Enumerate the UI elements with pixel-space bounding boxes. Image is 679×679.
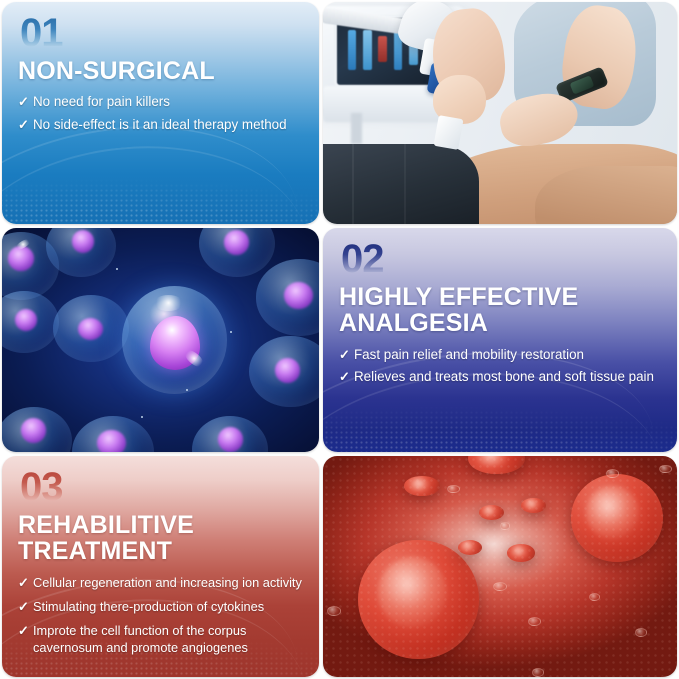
list-item: ✓ Fast pain relief and mobility restorat… xyxy=(339,346,661,365)
card-03-title-line-2: TREATMENT xyxy=(18,538,303,565)
list-item: ✓ Stimulating there-production of cytoki… xyxy=(18,598,303,616)
benefit-card-03[interactable]: 03 REHABILITIVE TREATMENT ✓ Cellular reg… xyxy=(2,456,319,677)
grid-cell-card-03: 03 REHABILITIVE TREATMENT ✓ Cellular reg… xyxy=(0,454,321,679)
card-02-bullet-list: ✓ Fast pain relief and mobility restorat… xyxy=(339,346,661,387)
photo-shockwave-therapy xyxy=(323,2,677,224)
patient-second-leg xyxy=(535,166,677,224)
grid-cell-photo-blood xyxy=(321,454,679,679)
check-icon: ✓ xyxy=(18,93,33,111)
grid-cell-photo-therapy xyxy=(321,0,679,226)
photo-stem-cells xyxy=(2,228,319,452)
benefit-card-01[interactable]: 01 NON-SURGICAL ✓ No need for pain kille… xyxy=(2,2,319,224)
card-02-title-line-1: HIGHLY EFFECTIVE xyxy=(339,284,661,311)
cell-nucleus xyxy=(284,282,313,309)
cell-nucleus xyxy=(72,230,94,252)
card-03-content: 03 REHABILITIVE TREATMENT ✓ Cellular reg… xyxy=(2,456,319,677)
dark-drape xyxy=(323,144,479,224)
cell-nucleus xyxy=(275,358,300,383)
photo-card-stem-cells[interactable] xyxy=(2,228,319,452)
card-02-content: 02 HIGHLY EFFECTIVE ANALGESIA ✓ Fast pai… xyxy=(323,228,677,452)
check-icon: ✓ xyxy=(18,574,33,592)
list-item: ✓ Improte the cell function of the corpu… xyxy=(18,622,303,657)
card-02-title: HIGHLY EFFECTIVE ANALGESIA xyxy=(339,284,661,337)
machine-cart-leg xyxy=(351,113,362,144)
check-icon: ✓ xyxy=(18,116,33,134)
benefit-card-02[interactable]: 02 HIGHLY EFFECTIVE ANALGESIA ✓ Fast pai… xyxy=(323,228,677,452)
card-02-title-line-2: ANALGESIA xyxy=(339,310,661,337)
bullet-text: No need for pain killers xyxy=(33,93,170,112)
cell-nucleus xyxy=(218,427,243,452)
grid-cell-photo-cells xyxy=(0,226,321,454)
card-01-title: NON-SURGICAL xyxy=(18,58,303,85)
cell-nucleus xyxy=(15,309,37,331)
check-icon: ✓ xyxy=(339,346,354,364)
grid-cell-card-02: 02 HIGHLY EFFECTIVE ANALGESIA ✓ Fast pai… xyxy=(321,226,679,454)
cell-nucleus xyxy=(97,430,126,452)
infographic-board: 01 NON-SURGICAL ✓ No need for pain kille… xyxy=(0,0,679,679)
photo-red-blood-cells xyxy=(323,456,677,677)
card-01-bullet-list: ✓ No need for pain killers ✓ No side-eff… xyxy=(18,93,303,134)
bullet-text: No side-effect is it an ideal therapy me… xyxy=(33,116,287,135)
card-03-title-line-1: REHABILITIVE xyxy=(18,512,303,539)
bullet-text: Improte the cell function of the corpus … xyxy=(33,622,303,657)
list-item: ✓ No side-effect is it an ideal therapy … xyxy=(18,116,303,135)
bullet-text: Fast pain relief and mobility restoratio… xyxy=(354,346,584,365)
cell-nucleus xyxy=(224,230,249,255)
plasma-texture xyxy=(323,456,677,677)
check-icon: ✓ xyxy=(18,622,33,640)
cell-nucleus xyxy=(8,246,33,271)
highlight-glint xyxy=(154,295,183,311)
photo-card-therapy[interactable] xyxy=(323,2,677,224)
card-01-content: 01 NON-SURGICAL ✓ No need for pain kille… xyxy=(2,2,319,224)
bullet-text: Relieves and treats most bone and soft t… xyxy=(354,368,654,387)
card-02-number: 02 xyxy=(341,241,661,278)
card-03-number: 03 xyxy=(20,469,303,506)
check-icon: ✓ xyxy=(18,598,33,616)
card-03-bullet-list: ✓ Cellular regeneration and increasing i… xyxy=(18,574,303,657)
list-item: ✓ Relieves and treats most bone and soft… xyxy=(339,368,661,387)
photo-card-blood-cells[interactable] xyxy=(323,456,677,677)
grid-cell-card-01: 01 NON-SURGICAL ✓ No need for pain kille… xyxy=(0,0,321,226)
bullet-text: Cellular regeneration and increasing ion… xyxy=(33,574,302,592)
list-item: ✓ No need for pain killers xyxy=(18,93,303,112)
card-01-number: 01 xyxy=(20,15,303,52)
card-03-title: REHABILITIVE TREATMENT xyxy=(18,512,303,565)
check-icon: ✓ xyxy=(339,368,354,386)
list-item: ✓ Cellular regeneration and increasing i… xyxy=(18,574,303,592)
bullet-text: Stimulating there-production of cytokine… xyxy=(33,598,264,616)
